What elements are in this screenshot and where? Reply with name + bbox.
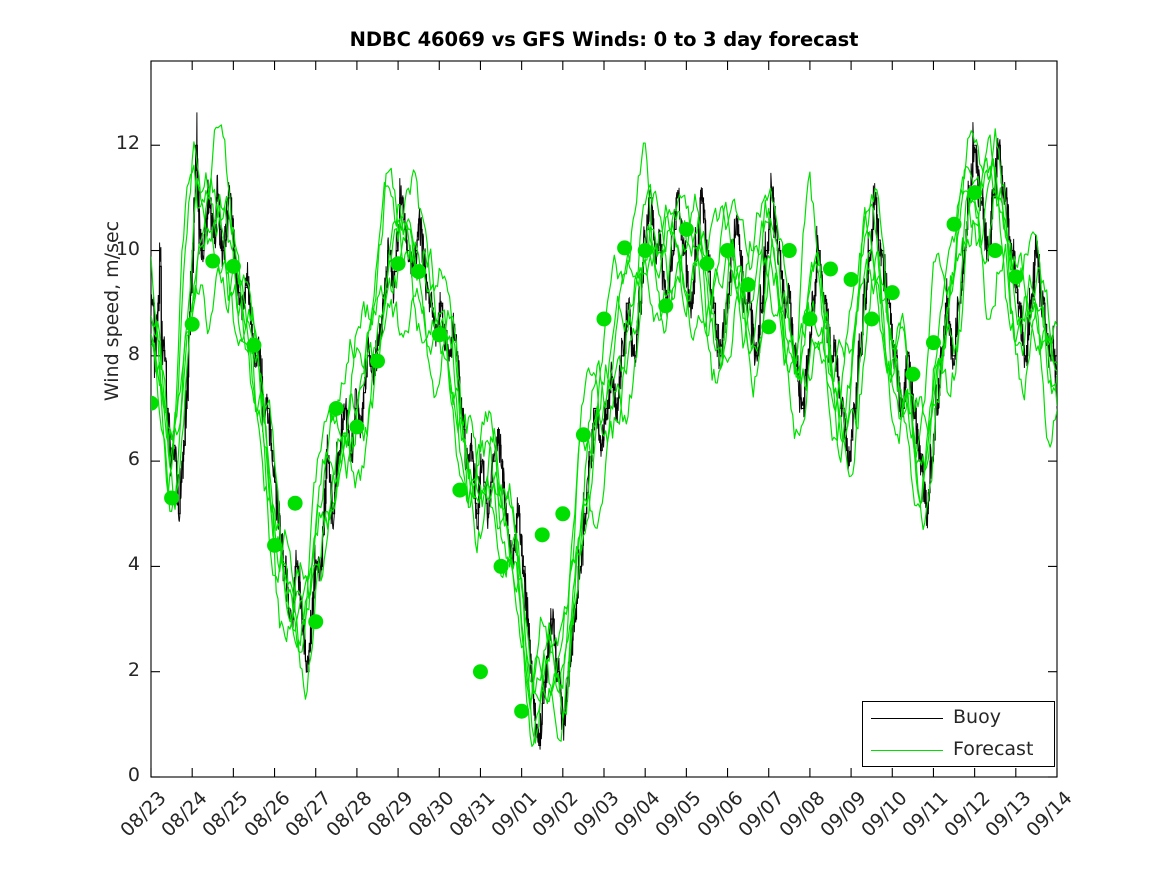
forecast-daily-marker (288, 496, 303, 511)
forecast-daily-marker (452, 483, 467, 498)
forecast-daily-marker (802, 311, 817, 326)
forecast-daily-marker (267, 538, 282, 553)
forecast-daily-marker (349, 419, 364, 434)
forecast-daily-marker (699, 256, 714, 271)
forecast-daily-marker (164, 490, 179, 505)
forecast-daily-marker (576, 427, 591, 442)
forecast-daily-marker (473, 664, 488, 679)
forecast-daily-marker (329, 401, 344, 416)
forecast-daily-marker (967, 185, 982, 200)
forecast-daily-marker (741, 277, 756, 292)
forecast-daily-marker (308, 614, 323, 629)
forecast-daily-marker (494, 559, 509, 574)
forecast-daily-marker (761, 319, 776, 334)
legend-item-buoy: Buoy (863, 702, 1054, 735)
forecast-daily-marker (658, 298, 673, 313)
chart-legend: Buoy Forecast (862, 701, 1055, 767)
forecast-daily-marker (391, 256, 406, 271)
forecast-daily-marker (926, 335, 941, 350)
forecast-daily-marker (185, 317, 200, 332)
forecast-daily-marker (720, 243, 735, 258)
legend-label-forecast: Forecast (953, 738, 1033, 760)
forecast-daily-marker (988, 243, 1003, 258)
forecast-daily-marker (555, 506, 570, 521)
forecast-daily-marker (226, 259, 241, 274)
forecast-daily-marker (246, 338, 261, 353)
forecast-daily-marker (864, 311, 879, 326)
forecast-daily-marker (844, 272, 859, 287)
forecast-daily-marker (905, 367, 920, 382)
legend-swatch-forecast (871, 750, 943, 751)
legend-label-buoy: Buoy (953, 706, 1001, 728)
forecast-daily-marker (514, 704, 529, 719)
forecast-daily-marker (782, 243, 797, 258)
forecast-daily-marker (597, 311, 612, 326)
forecast-daily-marker (679, 222, 694, 237)
forecast-daily-marker (1008, 269, 1023, 284)
legend-item-forecast: Forecast (863, 734, 1054, 767)
forecast-daily-marker (205, 254, 220, 269)
forecast-daily-marker (885, 285, 900, 300)
forecast-daily-marker (947, 217, 962, 232)
forecast-daily-marker (535, 527, 550, 542)
forecast-daily-marker (617, 240, 632, 255)
forecast-daily-marker (823, 261, 838, 276)
forecast-daily-marker (411, 264, 426, 279)
forecast-daily-marker (432, 327, 447, 342)
forecast-daily-marker (144, 396, 159, 411)
forecast-daily-marker (638, 243, 653, 258)
chart-figure: NDBC 46069 vs GFS Winds: 0 to 3 day fore… (0, 0, 1167, 875)
legend-swatch-buoy (871, 718, 943, 719)
forecast-daily-marker (370, 354, 385, 369)
